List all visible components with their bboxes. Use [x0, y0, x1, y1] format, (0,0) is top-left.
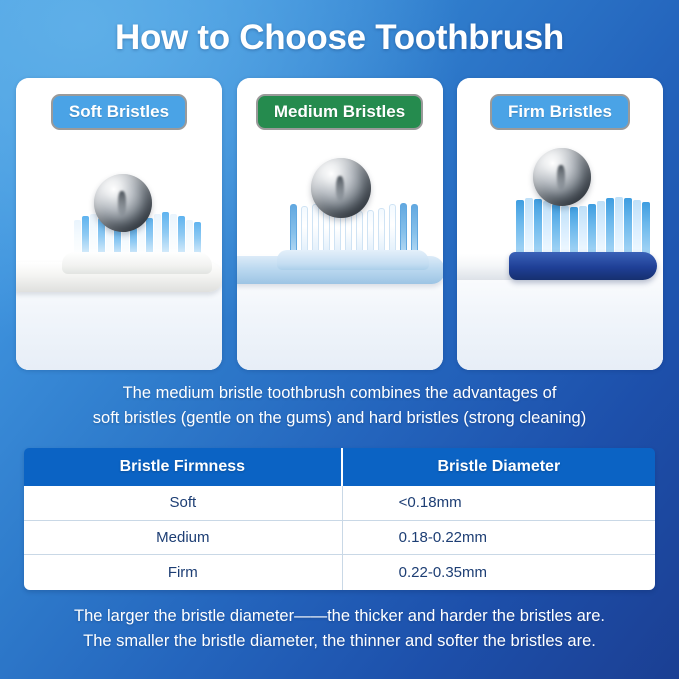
footer-line-2: The smaller the bristle diameter, the th… — [0, 629, 679, 654]
page-title: How to Choose Toothbrush — [0, 18, 679, 58]
table-row: Firm 0.22-0.35mm — [24, 555, 655, 590]
badge-firm-bristles[interactable]: Firm Bristles — [490, 94, 630, 130]
cell-diameter-medium: 0.18-0.22mm — [343, 521, 655, 555]
steel-ball-icon — [94, 174, 152, 232]
brush-head — [509, 252, 657, 280]
description-block: The medium bristle toothbrush combines t… — [0, 381, 679, 431]
cell-firmness-medium: Medium — [24, 521, 343, 555]
table-header-diameter: Bristle Diameter — [343, 448, 655, 486]
bristle-field — [507, 190, 659, 256]
card-medium-bristles[interactable]: Medium Bristles — [237, 78, 443, 370]
infographic-root: How to Choose Toothbrush — [0, 0, 679, 679]
bristle-comparison-table: Bristle Firmness Bristle Diameter Soft <… — [24, 448, 655, 590]
brush-head — [277, 250, 429, 270]
badge-container: Firm Bristles — [457, 94, 663, 130]
cell-firmness-firm: Firm — [24, 555, 343, 590]
brush-head — [62, 252, 212, 274]
cell-diameter-soft: <0.18mm — [343, 486, 655, 520]
cell-diameter-firm: 0.22-0.35mm — [343, 555, 655, 590]
badge-container: Medium Bristles — [237, 94, 443, 130]
cell-firmness-soft: Soft — [24, 486, 343, 520]
steel-ball-icon — [311, 158, 371, 218]
table-header-row: Bristle Firmness Bristle Diameter — [24, 448, 655, 486]
description-line-2: soft bristles (gentle on the gums) and h… — [0, 406, 679, 431]
footer-note: The larger the bristle diameter——the thi… — [0, 604, 679, 654]
card-firm-bristles[interactable]: Firm Bristles — [457, 78, 663, 370]
badge-soft-bristles[interactable]: Soft Bristles — [51, 94, 187, 130]
table-row: Soft <0.18mm — [24, 486, 655, 521]
table-header-firmness: Bristle Firmness — [24, 448, 343, 486]
badge-medium-bristles[interactable]: Medium Bristles — [256, 94, 423, 130]
description-line-1: The medium bristle toothbrush combines t… — [0, 381, 679, 406]
bristle-cards-row: Soft Bristles — [16, 78, 663, 370]
table-row: Medium 0.18-0.22mm — [24, 521, 655, 556]
steel-ball-icon — [533, 148, 591, 206]
toothbrush-scene-medium — [237, 135, 443, 310]
footer-line-1: The larger the bristle diameter——the thi… — [0, 604, 679, 629]
card-soft-bristles[interactable]: Soft Bristles — [16, 78, 222, 370]
badge-container: Soft Bristles — [16, 94, 222, 130]
toothbrush-scene-soft — [16, 135, 222, 310]
toothbrush-scene-firm — [457, 135, 663, 310]
